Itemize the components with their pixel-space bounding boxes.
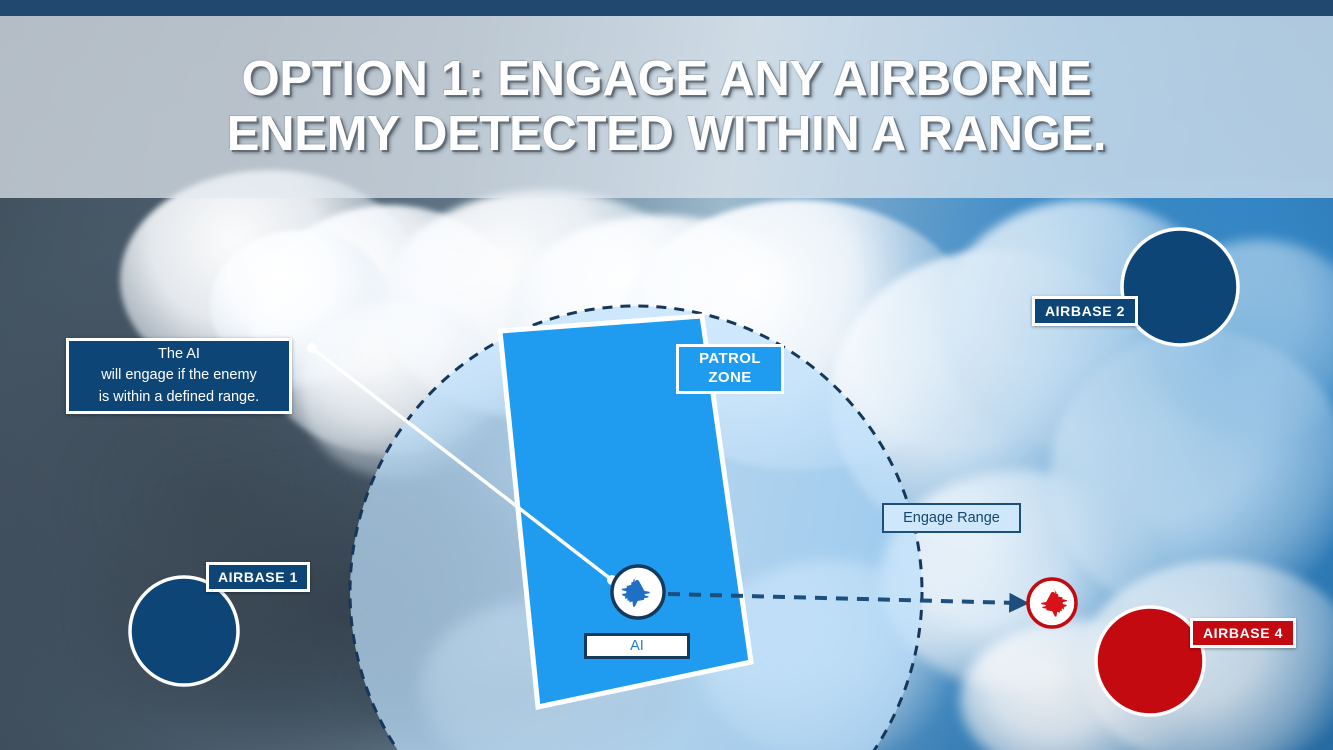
slide-title: OPTION 1: ENGAGE ANY AIRBORNE ENEMY DETE… [187,52,1146,162]
engage-range-label[interactable]: Engage Range [882,503,1021,533]
patrol-zone-label[interactable]: PATROL ZONE [676,344,784,394]
airbase-4-label[interactable]: AIRBASE 4 [1190,618,1296,648]
ai-unit-marker[interactable] [612,566,664,618]
airbase-2-label[interactable]: AIRBASE 2 [1032,296,1138,326]
airbase-4-marker[interactable] [1096,607,1204,715]
title-band: OPTION 1: ENGAGE ANY AIRBORNE ENEMY DETE… [0,16,1333,198]
enemy-unit-marker[interactable] [1028,579,1076,627]
leader-dot-start [307,343,317,353]
airbase-2-marker[interactable] [1122,229,1238,345]
airbase-1-marker[interactable] [130,577,238,685]
ai-explanation-callout: The AI will engage if the enemy is withi… [66,338,292,414]
slide-canvas: OPTION 1: ENGAGE ANY AIRBORNE ENEMY DETE… [0,0,1333,750]
airbase-1-label[interactable]: AIRBASE 1 [206,562,310,592]
top-accent-strip [0,0,1333,16]
ai-unit-label[interactable]: AI [584,633,690,659]
